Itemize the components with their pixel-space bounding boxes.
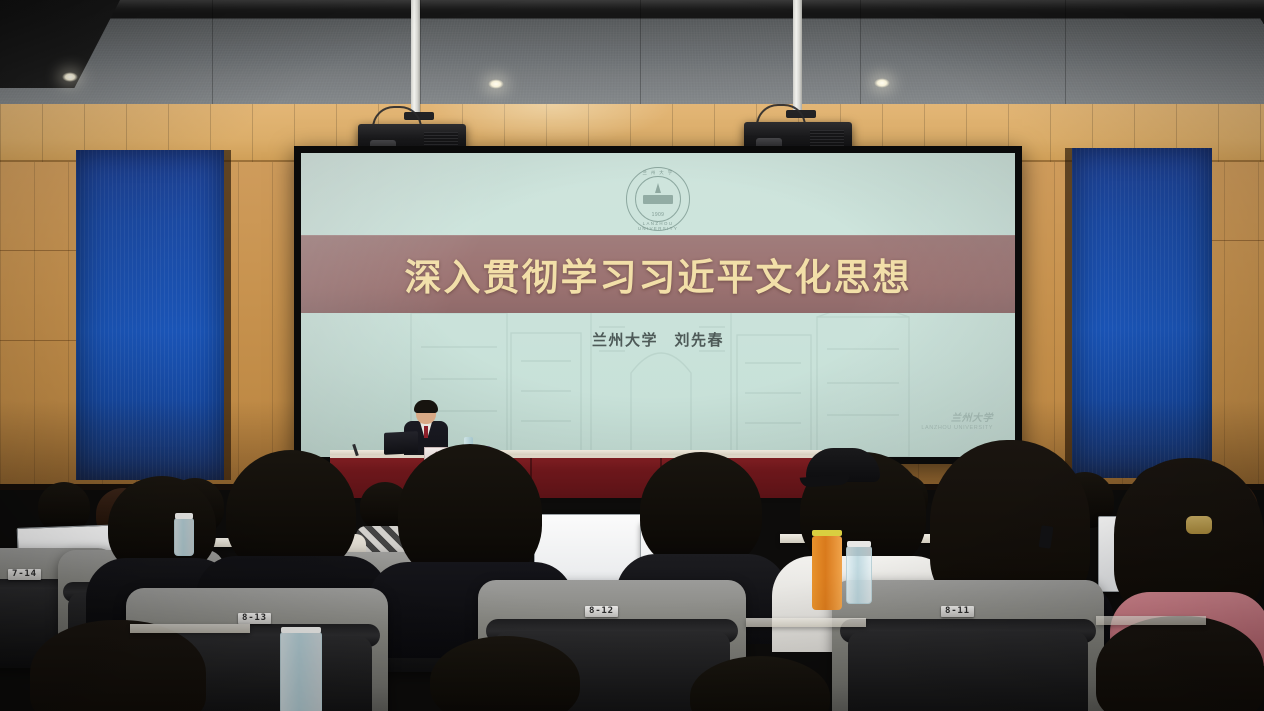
downlight-3 [874, 78, 890, 88]
ceiling [0, 0, 1264, 112]
seat-label-7-14: 7-14 [8, 569, 41, 580]
slide-title-band: 深入贯彻学习习近平文化思想 [301, 235, 1015, 313]
slide-watermark: 兰州大学 LANZHOU UNIVERSITY [921, 409, 993, 431]
slide-title: 深入贯彻学习习近平文化思想 [405, 247, 912, 301]
foreground-head-right [1096, 616, 1264, 711]
chair-8-11[interactable] [832, 580, 1104, 711]
seat-label-8-12: 8-12 [585, 606, 618, 617]
seal-arc-bottom: LANZHOU UNIVERSITY [627, 221, 689, 231]
projector-pole-left [411, 0, 420, 118]
slide-subtitle: 兰州大学 刘先春 [301, 329, 1015, 350]
slide-watermark-line1: 兰州大学 [921, 409, 993, 424]
lecture-hall-photo: 兰 州 大 学 1909 LANZHOU UNIVERSITY 深入贯彻学习习近… [0, 0, 1264, 711]
seal-year: 1909 [652, 212, 665, 218]
water-bottle-mid [846, 546, 872, 604]
wall-light-glow [430, 104, 670, 144]
tea-bottle [812, 536, 842, 610]
audience-area: 7-14 7-15 7-13 8-13 [0, 430, 1264, 711]
seat-label-8-11: 8-11 [941, 606, 974, 617]
university-seal-icon: 兰 州 大 学 1909 LANZHOU UNIVERSITY [626, 167, 690, 231]
hair-scrunchie [1186, 516, 1212, 534]
foreground-head-left [30, 620, 206, 711]
audience-head-4 [640, 452, 762, 570]
projector-pole-right [793, 0, 802, 116]
seat-label-8-13: 8-13 [238, 613, 271, 624]
downlight-1 [62, 72, 78, 82]
water-bottle-far [174, 518, 194, 556]
water-bottle-foreground [280, 632, 322, 711]
baseball-cap [806, 448, 880, 482]
downlight-2 [488, 79, 504, 89]
ceiling-acoustic-panels [0, 19, 1264, 110]
